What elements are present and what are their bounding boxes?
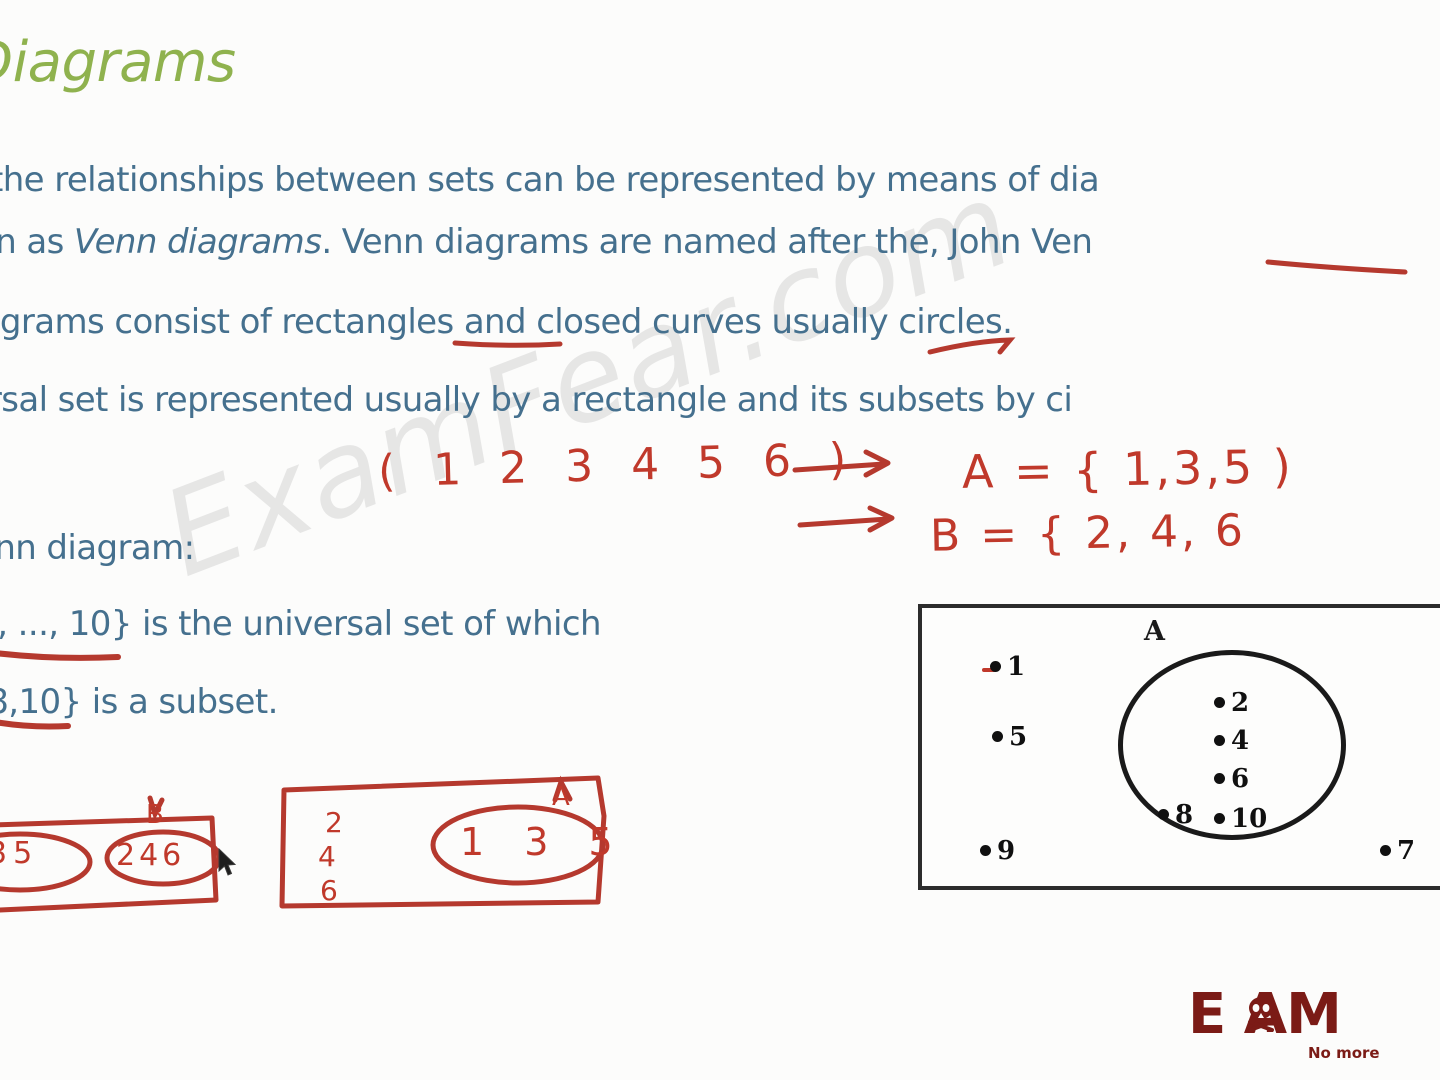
page-title: Diagrams — [0, 30, 236, 95]
bullet-dot-icon — [980, 845, 991, 856]
venn-point-9-value: 9 — [997, 836, 1015, 866]
bullet-dot-icon — [1214, 735, 1225, 746]
venn-point-8: 8 — [1158, 800, 1193, 830]
bullet-dot-icon — [1214, 773, 1225, 784]
venn-point-7: 7 — [1380, 836, 1415, 866]
venn-point-2: 2 — [1214, 688, 1249, 718]
arrow-to-set-a — [795, 464, 884, 470]
body-line-5: enn diagram: — [0, 528, 194, 568]
bullet-dot-icon — [990, 661, 1001, 672]
venn-point-2-value: 2 — [1231, 688, 1249, 718]
brand-logo: E AM No more — [1188, 982, 1440, 1062]
body-line-3: liagrams consist of rectangles and close… — [0, 302, 1012, 342]
underline-rectangles — [455, 343, 560, 345]
arrow-to-set-b — [800, 519, 888, 525]
venn-point-8-value: 8 — [1175, 800, 1193, 830]
body-line-2-part-a: wn as — [0, 222, 74, 262]
bullet-dot-icon — [1214, 697, 1225, 708]
venn-point-6: 6 — [1214, 764, 1249, 794]
body-line-4: versal set is represented usually by a r… — [0, 380, 1072, 420]
handwritten-left-label: B — [146, 800, 164, 830]
venn-set-label: A — [1144, 616, 1165, 647]
mouse-cursor-icon — [218, 848, 238, 878]
venn-point-1: 1 — [990, 652, 1025, 682]
handwritten-right-label: A — [552, 782, 570, 812]
bullet-dot-icon — [1380, 845, 1391, 856]
handwritten-left-inside: 246 — [116, 838, 185, 873]
venn-point-5: 5 — [992, 722, 1027, 752]
body-line-2-emphasis: Venn diagrams — [74, 222, 321, 262]
body-line-2: wn as Venn diagrams. Venn diagrams are n… — [0, 222, 1092, 262]
slide-canvas: ExamFear.com Diagrams the relationships … — [0, 0, 1440, 1080]
handwritten-set-a: A = { 1,3,5 ) — [962, 439, 1295, 499]
handwritten-right-outside-3: 6 — [320, 874, 338, 907]
handwritten-right-outside-1: 2 — [325, 806, 343, 839]
handwritten-left-outside: 35 — [0, 836, 38, 871]
body-line-7: 6,8,10} is a subset. — [0, 682, 278, 722]
body-line-6: ,3, ..., 10} is the universal set of whi… — [0, 604, 601, 644]
brand-tagline: No more — [1308, 1044, 1380, 1062]
body-line-1: the relationships between sets can be re… — [0, 160, 1099, 200]
venn-point-10: 10 — [1214, 804, 1267, 834]
venn-point-4: 4 — [1214, 726, 1249, 756]
handwritten-set-b: B = { 2, 4, 6 — [930, 505, 1247, 562]
bullet-dot-icon — [1158, 809, 1169, 820]
bullet-dot-icon — [992, 731, 1003, 742]
venn-point-4-value: 4 — [1231, 726, 1249, 756]
skull-crossbones-icon — [1244, 996, 1278, 1032]
handwritten-right-inside: 1 3 5 — [460, 820, 627, 864]
venn-point-6-value: 6 — [1231, 764, 1249, 794]
handwritten-universal-set: ( 1 2 3 4 5 6 ) — [377, 434, 858, 498]
venn-diagram-universal-rectangle: A 1 5 9 7 2 4 6 8 10 — [918, 604, 1440, 890]
bullet-dot-icon — [1214, 813, 1225, 824]
venn-point-5-value: 5 — [1009, 722, 1027, 752]
venn-point-9: 9 — [980, 836, 1015, 866]
underline-john-venn — [1268, 262, 1405, 272]
underline-universal-set — [0, 653, 118, 658]
underline-subset — [0, 722, 68, 727]
venn-point-7-value: 7 — [1397, 836, 1415, 866]
venn-point-1-value: 1 — [1007, 652, 1025, 682]
venn-point-10-value: 10 — [1231, 804, 1267, 834]
body-line-2-part-b: . Venn diagrams are named after the, Joh… — [321, 222, 1092, 262]
handwritten-right-outside-2: 4 — [318, 840, 336, 873]
